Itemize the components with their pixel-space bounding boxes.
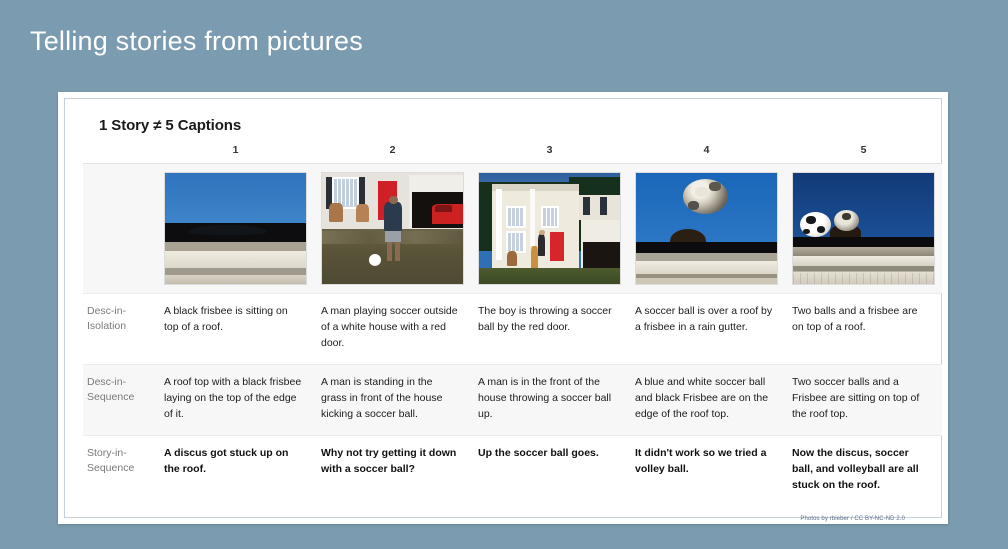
caption-r1-c1: A black frisbee is sitting on top of a r…: [157, 294, 314, 365]
photo-cell-2: [314, 164, 471, 294]
photo-cell-4: [628, 164, 785, 294]
column-header-1: 1: [157, 144, 314, 164]
row-label-line-2: Isolation: [87, 320, 126, 332]
row-label-line-1: Desc-in-: [87, 305, 126, 317]
figure-inner-frame: 1 Story ≠ 5 Captions 1 2 3 4 5: [64, 98, 942, 518]
photo-cell-5: [785, 164, 942, 294]
caption-r3-c2: Why not try getting it down with a socce…: [314, 435, 471, 505]
table-row: Desc-in- Isolation A black frisbee is si…: [83, 294, 942, 365]
caption-r1-c2: A man playing soccer outside of a white …: [314, 294, 471, 365]
captions-table: 1 2 3 4 5: [83, 144, 942, 506]
caption-r3-c4: It didn't work so we tried a volley ball…: [628, 435, 785, 505]
photo-cell-3: [471, 164, 628, 294]
row-label-line-1: Story-in-: [87, 447, 127, 459]
photo-credit: Photos by rbieber / CC BY-NC-ND 2.0: [83, 506, 923, 522]
table-header-row: 1 2 3 4 5: [83, 144, 942, 164]
caption-r2-c5: Two soccer balls and a Frisbee are sitti…: [785, 364, 942, 435]
caption-r2-c2: A man is standing in the grass in front …: [314, 364, 471, 435]
caption-r1-c4: A soccer ball is over a roof by a frisbe…: [628, 294, 785, 365]
caption-r1-c5: Two balls and a frisbee are on top of a …: [785, 294, 942, 365]
column-header-5: 5: [785, 144, 942, 164]
photo-3-house-with-red-door: [478, 172, 621, 285]
row-label-desc-in-sequence: Desc-in- Sequence: [83, 364, 157, 435]
table-row: Desc-in- Sequence A roof top with a blac…: [83, 364, 942, 435]
column-header-3: 3: [471, 144, 628, 164]
caption-r2-c1: A roof top with a black frisbee laying o…: [157, 364, 314, 435]
photo-4-ball-over-roof: [635, 172, 778, 285]
caption-r3-c3: Up the soccer ball goes.: [471, 435, 628, 505]
caption-r2-c4: A blue and white soccer ball and black F…: [628, 364, 785, 435]
row-label-line-2: Sequence: [87, 391, 134, 403]
row-label-story-in-sequence: Story-in- Sequence: [83, 435, 157, 505]
caption-r3-c1: A discus got stuck up on the roof.: [157, 435, 314, 505]
figure-card: 1 Story ≠ 5 Captions 1 2 3 4 5: [58, 92, 948, 524]
row-label-line-2: Sequence: [87, 462, 134, 474]
column-header-2: 2: [314, 144, 471, 164]
photo-cell-1: [157, 164, 314, 294]
corner-header: [83, 144, 157, 164]
row-label-line-1: Desc-in-: [87, 376, 126, 388]
caption-r3-c5: Now the discus, soccer ball, and volleyb…: [785, 435, 942, 505]
caption-r2-c3: A man is in the front of the house throw…: [471, 364, 628, 435]
photo-5-two-balls-on-roof: [792, 172, 935, 285]
slide-title: Telling stories from pictures: [30, 26, 363, 57]
figure-heading: 1 Story ≠ 5 Captions: [99, 117, 923, 134]
table-row: Story-in- Sequence A discus got stuck up…: [83, 435, 942, 505]
photo-row: [83, 164, 942, 294]
photo-2-man-playing-soccer: [321, 172, 464, 285]
photo-row-label: [83, 164, 157, 294]
photo-1-frisbee-on-roof: [164, 172, 307, 285]
caption-r1-c3: The boy is throwing a soccer ball by the…: [471, 294, 628, 365]
column-header-4: 4: [628, 144, 785, 164]
row-label-desc-in-isolation: Desc-in- Isolation: [83, 294, 157, 365]
